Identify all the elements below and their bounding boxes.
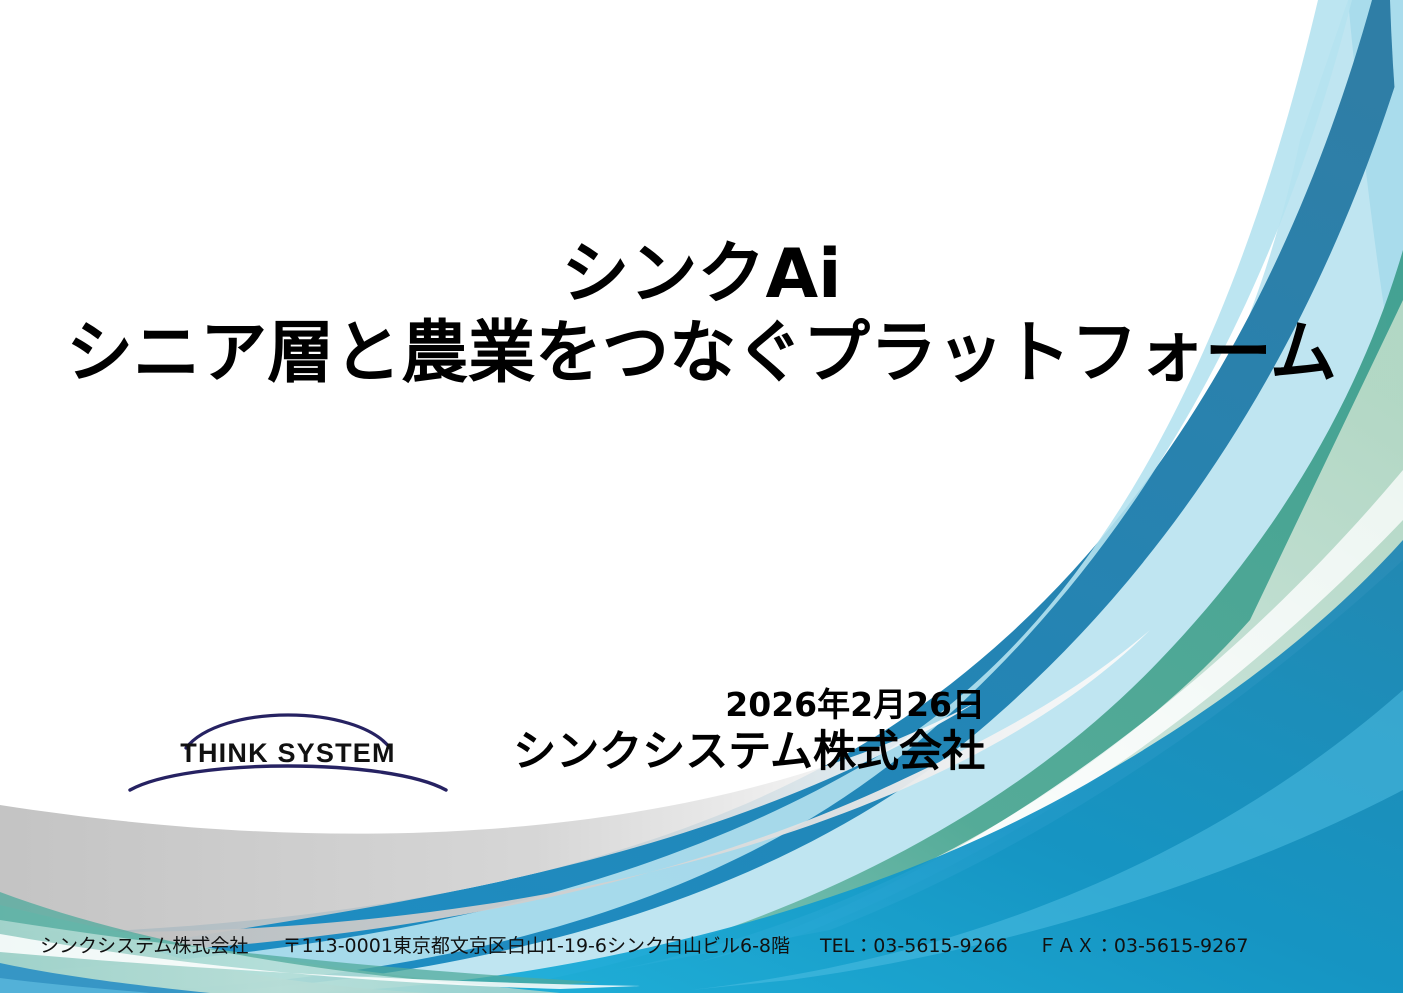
- footer-address: 〒113-0001東京都文京区白山1-19-6シンク白山ビル6-8階: [282, 931, 790, 958]
- page-subtitle: シニア層と農業をつなぐプラットフォーム: [11, 317, 1393, 390]
- signature-block: 2026年2月26日 シンクシステム株式会社: [513, 686, 985, 777]
- footer-tel: TEL：03-5615-9266: [820, 931, 1008, 958]
- title-block: シンクAi シニア層と農業をつなぐプラットフォーム: [0, 238, 1403, 391]
- title-slide: シンクAi シニア層と農業をつなぐプラットフォーム THINK SYSTEM 2…: [0, 0, 1403, 993]
- footer-company: シンクシステム株式会社: [40, 931, 248, 958]
- footer: シンクシステム株式会社 〒113-0001東京都文京区白山1-19-6シンク白山…: [40, 928, 1370, 960]
- logo-arc-bottom: [130, 766, 446, 790]
- think-system-logo-icon: THINK SYSTEM: [128, 700, 448, 800]
- logo-wordmark: THINK SYSTEM: [180, 738, 395, 768]
- page-title: シンクAi: [0, 238, 1403, 311]
- presentation-date: 2026年2月26日: [513, 686, 985, 724]
- footer-fax: ＦＡＸ：03-5615-9267: [1038, 931, 1249, 958]
- company-name: シンクシステム株式会社: [513, 728, 985, 777]
- slide-content: シンクAi シニア層と農業をつなぐプラットフォーム THINK SYSTEM 2…: [0, 0, 1403, 993]
- company-logo: THINK SYSTEM: [128, 700, 448, 800]
